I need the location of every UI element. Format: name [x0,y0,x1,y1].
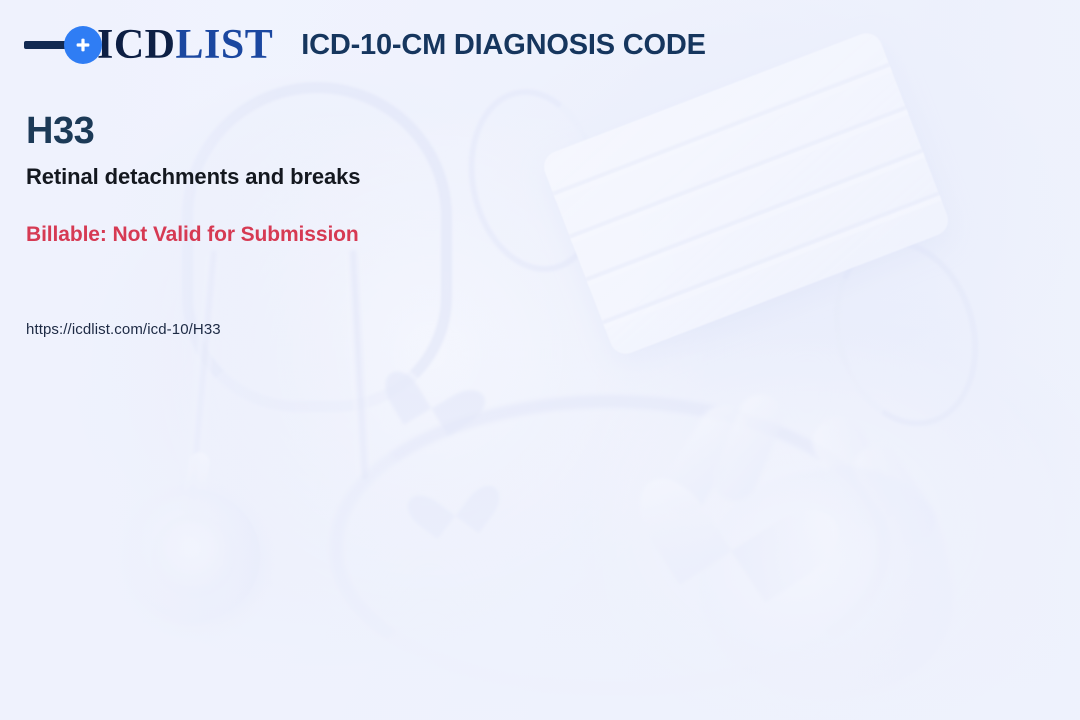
stethoscope-tube-left-icon [183,250,220,520]
stethoscope-diaphragm-icon [152,514,236,598]
diagnosis-code-block: H33 Retinal detachments and breaks [26,112,360,190]
photo-edge-fade [0,0,1080,720]
heart-shape-icon [420,466,486,532]
heart-shape-icon [397,351,475,429]
photo-highlight-bloom-right [600,330,1060,720]
diagnosis-code: H33 [26,112,360,152]
plus-circle-icon [64,26,102,64]
face-mask-pleats-icon [539,29,952,359]
logo-wordmark-icd: ICD [97,22,176,68]
photo-highlight-bloom-left [150,120,710,640]
logo-wordmark: ICDLIST [97,24,273,66]
poster-canvas: ICDLIST ICD-10-CM DIAGNOSIS CODE H33 Ret… [0,0,1080,720]
billable-status-badge: Billable: Not Valid for Submission [26,223,359,247]
background-medical-photo [0,0,1080,720]
large-heart-shape-icon [666,438,813,585]
open-hand-icon [682,450,968,720]
page-title: ICD-10-CM DIAGNOSIS CODE [301,29,705,62]
hand-finger-icon [652,397,755,523]
hand-finger-icon [707,388,790,508]
face-mask-ear-loop-left-icon [452,77,618,285]
source-url[interactable]: https://icdlist.com/icd-10/H33 [26,321,221,338]
diagnosis-description: Retinal detachments and breaks [26,164,360,190]
hand-finger-icon [845,437,945,554]
hand-finger-icon [805,409,903,538]
face-mask-ear-loop-right-icon [813,222,1000,443]
icdlist-logo[interactable]: ICDLIST [24,24,273,66]
surgical-face-mask-icon [539,29,952,359]
stethoscope-tube-sweep-icon [330,395,890,695]
header: ICDLIST ICD-10-CM DIAGNOSIS CODE [24,24,706,66]
photo-fade-veil [0,0,1080,720]
photo-color-wash [0,0,1080,720]
stethoscope-stem-icon [181,451,211,525]
logo-wordmark-list: LIST [176,22,274,68]
stethoscope-chest-piece-icon [128,490,260,622]
stethoscope-tube-right-icon [346,250,372,480]
